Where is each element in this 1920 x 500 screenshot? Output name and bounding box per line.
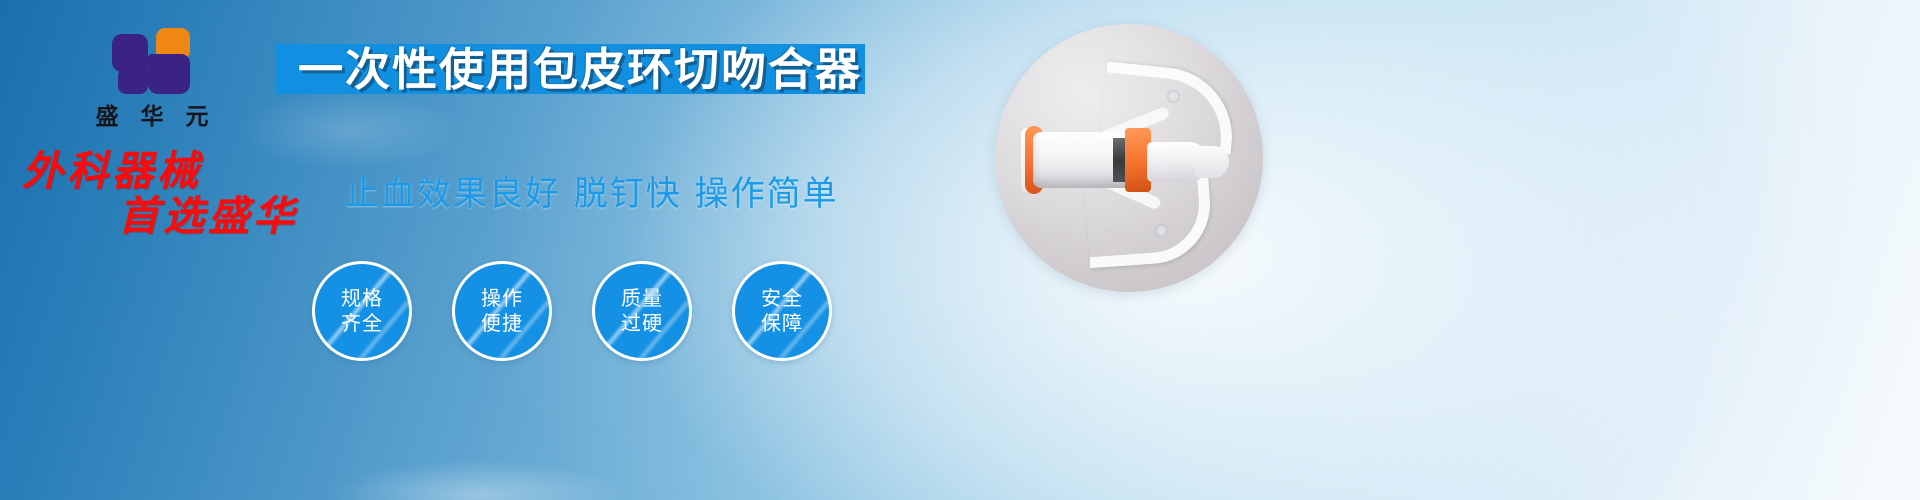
feature-4-line-2: 保障 (761, 311, 803, 336)
stapler-upper-pivot-pin (1167, 90, 1180, 103)
stapler-lower-pivot-pin (1155, 224, 1168, 237)
feature-2-line-1: 操作 (481, 286, 523, 311)
logo-block-top-left (112, 34, 148, 72)
shenghuayuan-blocks-logo-icon (112, 28, 192, 100)
brand-name: 盛 华 元 (62, 106, 242, 129)
feature-3-line-2: 过硬 (621, 311, 663, 336)
feature-circle-3[interactable]: 质量 过硬 (592, 261, 692, 361)
feature-3-line-1: 质量 (621, 286, 663, 311)
feature-4-line-1: 安全 (761, 286, 803, 311)
calligraphy-line-1: 外科器械 (22, 150, 352, 193)
feature-circle-1[interactable]: 规格 齐全 (312, 261, 412, 361)
brand-logo-block: 盛 华 元 (62, 28, 242, 129)
calligraphy-slogan: 外科器械 首选盛华 (22, 150, 352, 239)
feature-2-line-2: 便捷 (481, 311, 523, 336)
feature-1-line-1: 规格 (341, 286, 383, 311)
calligraphy-line-2: 首选盛华 (118, 195, 352, 238)
bottom-sheen (330, 460, 630, 500)
main-title-group: 一次性使用包皮环切吻合器 (276, 44, 840, 92)
feature-circle-4[interactable]: 安全 保障 (732, 261, 832, 361)
product-photo (995, 24, 1263, 292)
feature-1-line-2: 齐全 (341, 311, 383, 336)
feature-circle-list: 规格 齐全 操作 便捷 质量 过硬 安全 保障 (312, 261, 832, 361)
stapler-nose-tip (1195, 146, 1229, 178)
logo-block-bottom-right (148, 54, 190, 94)
logo-block-bottom-left (118, 68, 148, 94)
subtitle: 止血效果良好 脱钉快 操作简单 (345, 166, 839, 215)
page-title: 一次性使用包皮环切吻合器 (298, 46, 862, 94)
feature-circle-2[interactable]: 操作 便捷 (452, 261, 552, 361)
